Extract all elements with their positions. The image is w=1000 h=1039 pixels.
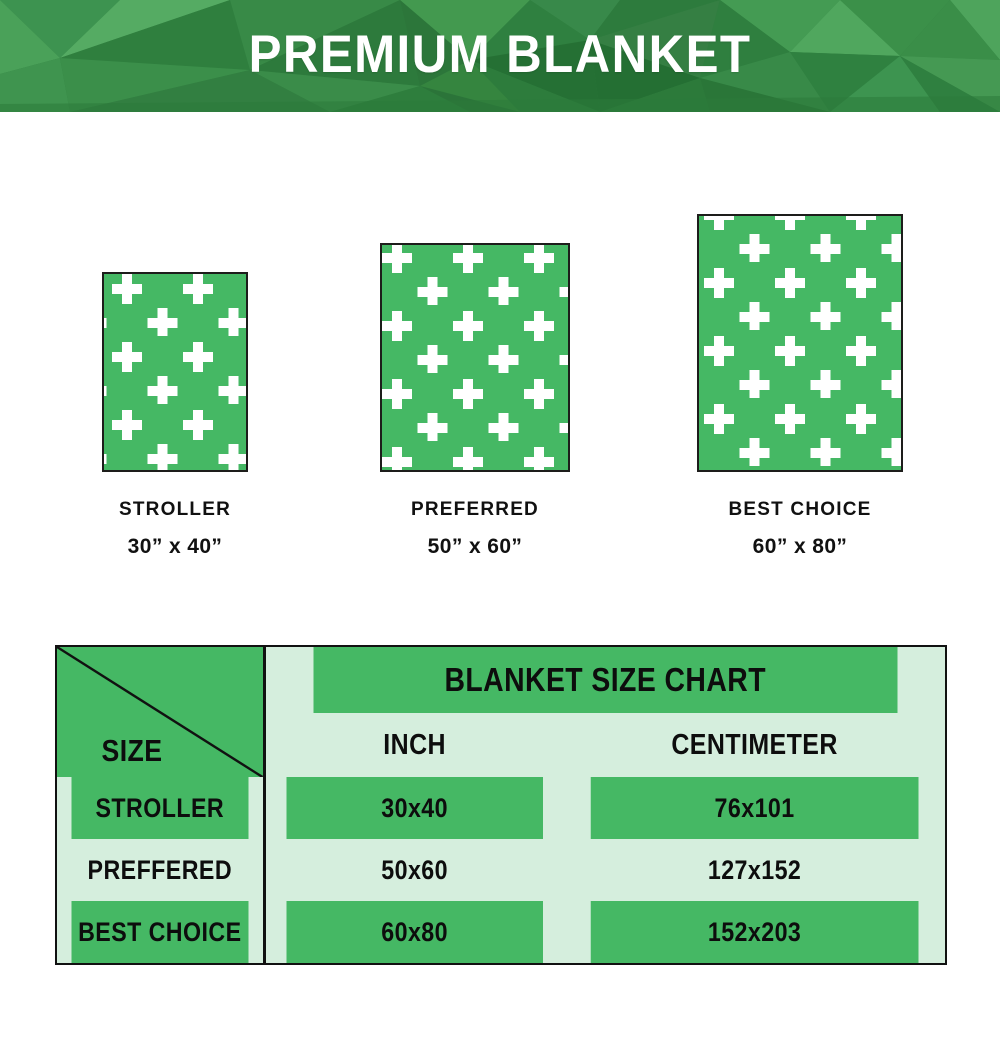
page-title: PREMIUM BLANKET: [35, 0, 965, 108]
cross-pattern-icon: [699, 216, 901, 470]
corner-label: SIZE: [76, 733, 188, 769]
swatch-item-preferred: PREFERRED 50” x 60”: [330, 243, 620, 557]
row-cm-preffered: 127x152: [591, 839, 920, 901]
row-inch-best-choice: 60x80: [285, 901, 543, 964]
cross-pattern-icon: [382, 245, 568, 470]
swatch-item-stroller: STROLLER 30” x 40”: [30, 272, 320, 557]
swatch-dims-preferred: 50” x 60”: [428, 536, 523, 557]
row-inch-stroller: 30x40: [285, 777, 543, 839]
corner-cell: SIZE: [56, 646, 264, 777]
table-title-row: SIZE BLANKET SIZE CHART: [56, 646, 946, 713]
swatch-name-stroller: STROLLER: [119, 500, 231, 519]
chart-title-cell: BLANKET SIZE CHART: [312, 646, 899, 713]
row-size-stroller: STROLLER: [71, 777, 250, 839]
swatch-name-best-choice: BEST CHOICE: [728, 500, 871, 519]
row-cm-best-choice: 152x203: [591, 901, 920, 964]
table-row: STROLLER 30x40 76x101: [56, 777, 946, 839]
blanket-swatch-preferred: [380, 243, 570, 472]
table-row: PREFFERED 50x60 127x152: [56, 839, 946, 901]
table-row: BEST CHOICE 60x80 152x203: [56, 901, 946, 964]
blanket-swatch-stroller: [102, 272, 248, 472]
row-cm-stroller: 76x101: [591, 777, 920, 839]
row-size-preffered: PREFFERED: [71, 839, 250, 901]
column-header-centimeter: CENTIMETER: [591, 713, 920, 777]
swatch-name-preferred: PREFERRED: [411, 500, 539, 519]
header-banner: PREMIUM BLANKET: [0, 0, 1000, 112]
blanket-size-chart: SIZE BLANKET SIZE CHART INCH CENTIMETER …: [55, 645, 945, 945]
swatch-dims-stroller: 30” x 40”: [128, 536, 223, 557]
cross-pattern-icon: [104, 274, 246, 470]
row-inch-preffered: 50x60: [285, 839, 543, 901]
column-header-inch: INCH: [285, 713, 543, 777]
size-chart-table: SIZE BLANKET SIZE CHART INCH CENTIMETER …: [55, 645, 947, 965]
swatch-gallery: STROLLER 30” x 40” PRE: [0, 112, 1000, 592]
row-size-best-choice: BEST CHOICE: [71, 901, 250, 964]
blanket-swatch-best-choice: [697, 214, 903, 472]
swatch-item-best-choice: BEST CHOICE 60” x 80”: [655, 214, 945, 557]
swatch-dims-best-choice: 60” x 80”: [753, 536, 848, 557]
